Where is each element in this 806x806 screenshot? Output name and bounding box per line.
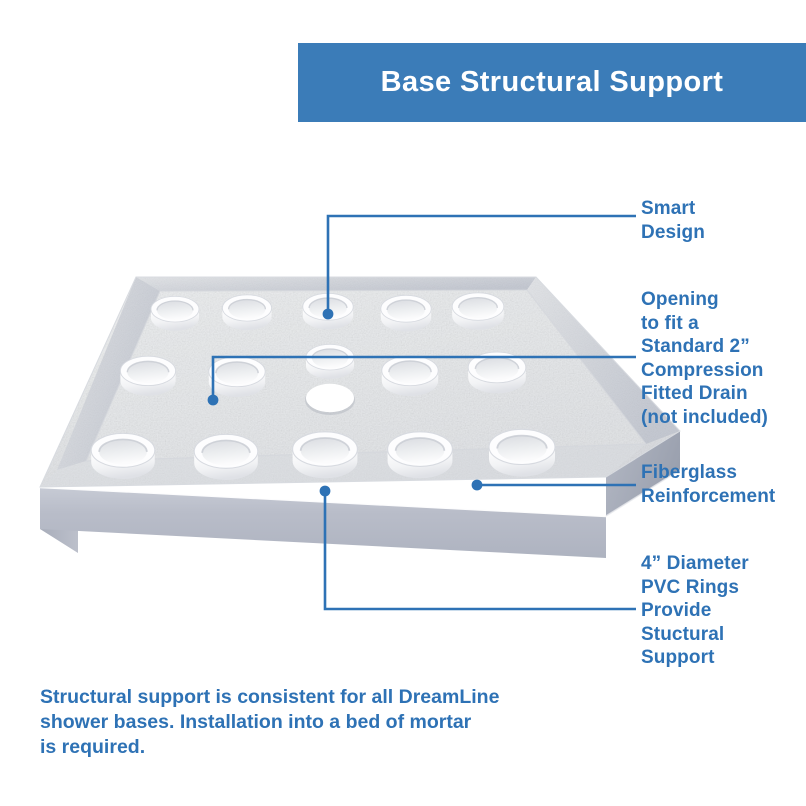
leader-dot-pvc-rings bbox=[320, 486, 331, 497]
pvc-ring bbox=[120, 356, 175, 396]
pvc-ring bbox=[452, 293, 504, 330]
footer-note: Structural support is consistent for all… bbox=[40, 685, 570, 760]
leader-dot-smart-design bbox=[323, 309, 334, 320]
callout-label-pvc-rings: 4” Diameter PVC Rings Provide Stuctural … bbox=[641, 552, 749, 670]
pvc-ring bbox=[489, 429, 555, 476]
callout-label-smart-design: Smart Design bbox=[641, 197, 705, 244]
pvc-ring bbox=[306, 344, 354, 378]
pvc-ring bbox=[222, 295, 271, 330]
leader-dot-fiberglass bbox=[472, 480, 483, 491]
pvc-ring bbox=[151, 296, 199, 330]
callout-label-drain-opening: Opening to fit a Standard 2” Compression… bbox=[641, 288, 768, 429]
leader-dot-drain-opening bbox=[208, 395, 219, 406]
pvc-ring bbox=[91, 433, 155, 479]
pvc-ring bbox=[381, 295, 431, 331]
infographic-canvas: Base Structural Support Smart Design Ope… bbox=[0, 0, 806, 806]
drain-opening-hole bbox=[305, 384, 355, 415]
pvc-ring bbox=[194, 434, 258, 480]
pvc-ring bbox=[293, 432, 358, 478]
pvc-ring bbox=[388, 432, 453, 478]
page-title: Base Structural Support bbox=[381, 66, 724, 99]
pvc-ring bbox=[382, 356, 438, 396]
header-banner: Base Structural Support bbox=[298, 43, 806, 122]
callout-label-fiberglass-reinforcement: Fiberglass Reinforcement bbox=[641, 461, 775, 508]
pvc-ring bbox=[209, 357, 265, 397]
